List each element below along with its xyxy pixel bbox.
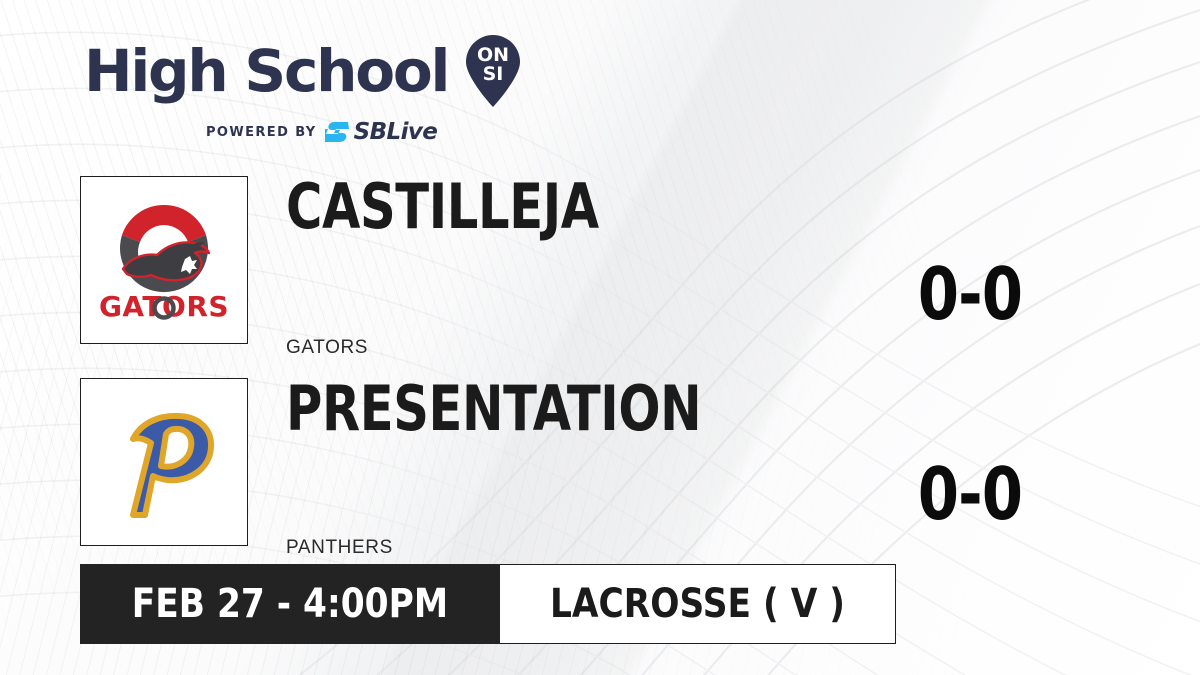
game-datetime-block: FEB 27 - 4:00PM (80, 564, 500, 644)
brand-header: High School ON SI POWERED BY SBLive (84, 34, 524, 144)
brand-title: High School (84, 42, 448, 100)
game-datetime-text: FEB 27 - 4:00PM (132, 584, 448, 624)
presentation-panthers-logo (80, 378, 248, 546)
game-sport-block: LACROSSE ( V ) (500, 564, 896, 644)
castilleja-mascot-label: GATORS (286, 337, 368, 359)
sblive-s-icon (325, 120, 351, 144)
on-si-pin-icon: ON SI (462, 34, 524, 108)
presentation-record: 0-0 (896, 458, 1044, 530)
matchup-graphic: High School ON SI POWERED BY SBLive (0, 0, 1200, 675)
powered-by-label: POWERED BY (206, 125, 317, 140)
sblive-wordmark: SBLive (354, 121, 438, 144)
game-sport-text: LACROSSE ( V ) (550, 584, 845, 624)
castilleja-record: 0-0 (896, 258, 1044, 330)
powered-by-row: POWERED BY SBLive (206, 120, 524, 144)
game-info-bar: FEB 27 - 4:00PM LACROSSE ( V ) (80, 564, 896, 644)
pin-bottom-text: SI (483, 63, 504, 85)
presentation-mascot-label: PANTHERS (286, 537, 393, 559)
sblive-logo: SBLive (325, 120, 438, 144)
castilleja-gators-logo: GATORS (80, 176, 248, 344)
presentation-team-name: PRESENTATION (286, 378, 701, 440)
castilleja-team-name: CASTILLEJA (286, 176, 599, 238)
